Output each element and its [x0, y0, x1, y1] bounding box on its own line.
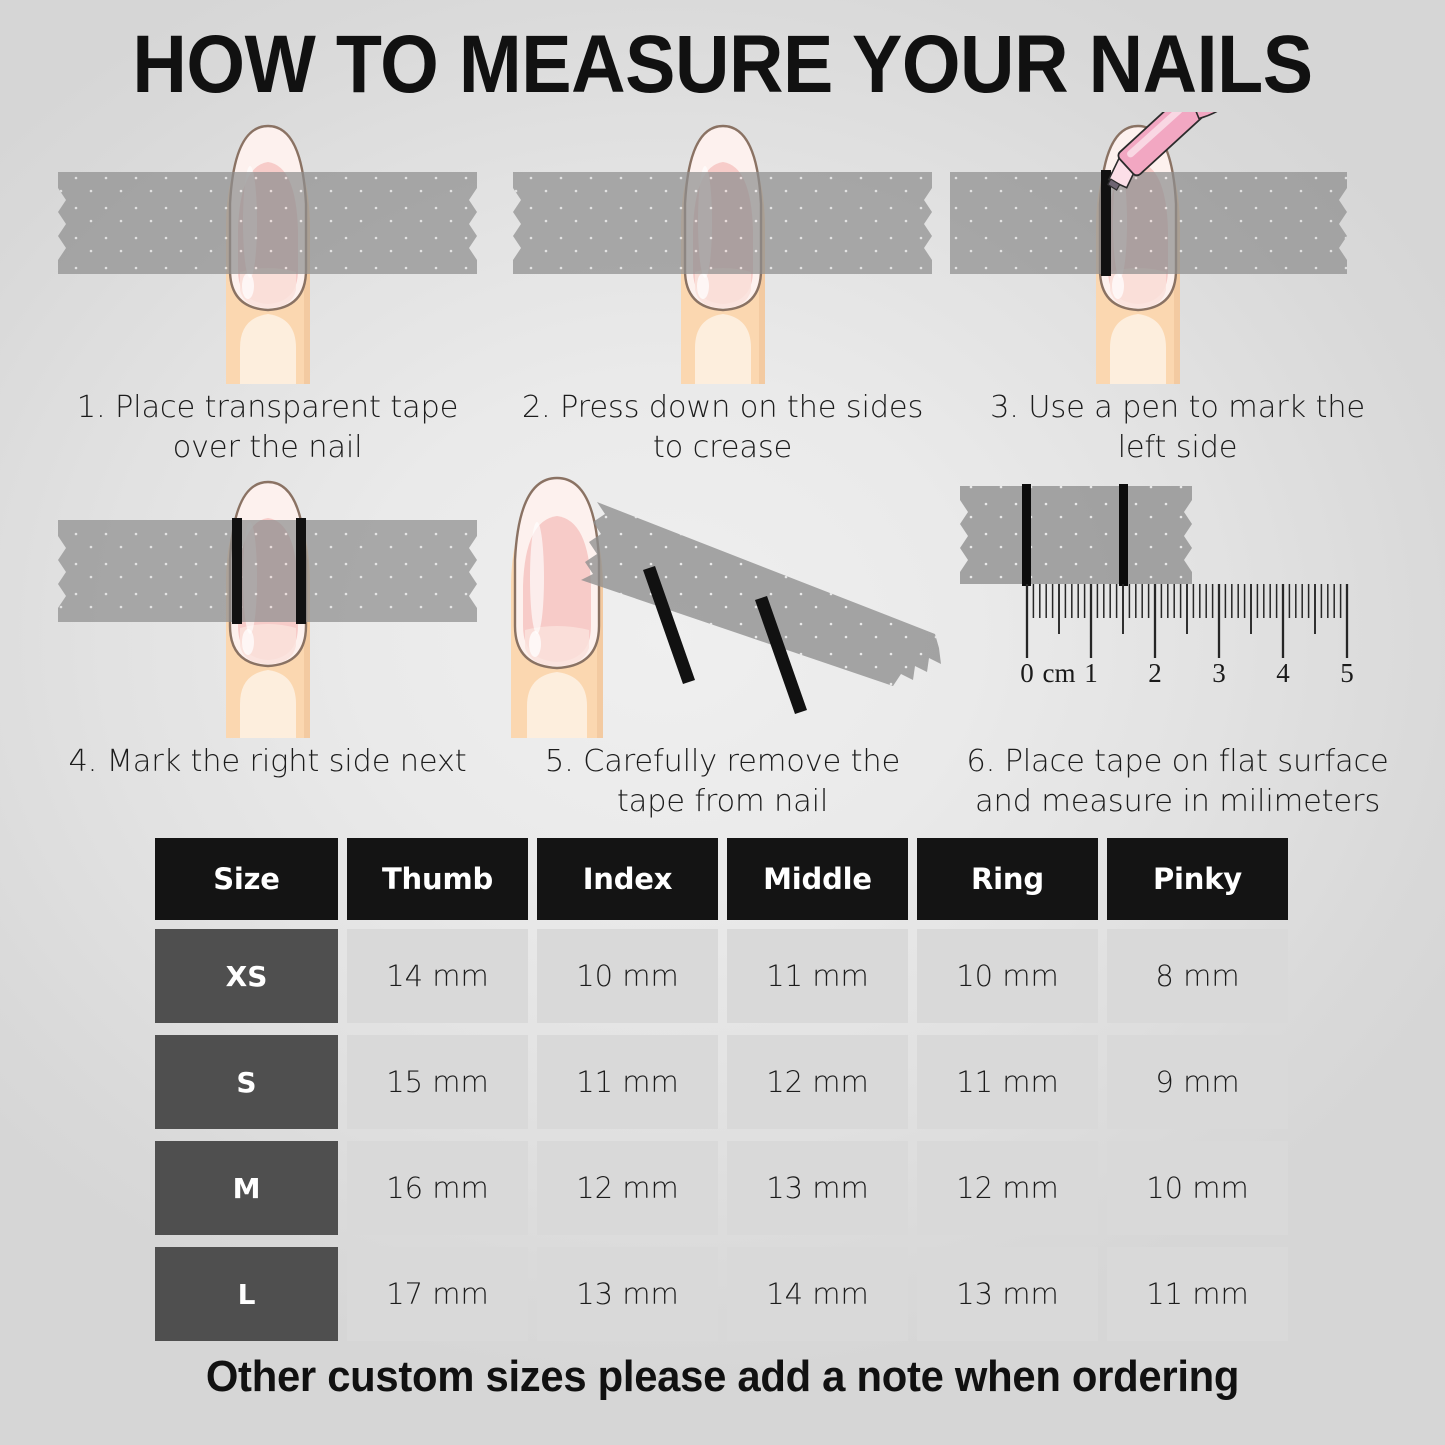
nail-with-tape-creased-icon	[495, 112, 950, 384]
data-cell: 12 mm	[917, 1141, 1098, 1235]
tape-strip	[950, 172, 1347, 274]
footer-note: Other custom sizes please add a note whe…	[36, 1352, 1409, 1402]
step-3: 3. Use a pen to mark the left side	[950, 112, 1405, 468]
data-cell: 9 mm	[1107, 1035, 1288, 1129]
header-label-thumb: Thumb	[382, 862, 493, 896]
step-4: 4. Mark the right side next	[40, 468, 495, 822]
data-cell: 17 mm	[347, 1247, 528, 1341]
data-cell: 11 mm	[727, 929, 908, 1023]
tape-mark-left	[1022, 484, 1031, 586]
header-label-index: Index	[583, 862, 673, 896]
cell-value: 10 mm	[1146, 1171, 1249, 1205]
tape-mark-right	[1119, 484, 1128, 586]
data-cell: 11 mm	[1107, 1247, 1288, 1341]
cell-value: 13 mm	[766, 1171, 869, 1205]
data-cell: 10 mm	[917, 929, 1098, 1023]
header-label-middle: Middle	[763, 862, 872, 896]
step-6-illustration: 0 cm 1 2 3 4 5	[950, 468, 1405, 738]
data-cell: 13 mm	[917, 1247, 1098, 1341]
step-6-caption: 6. Place tape on flat surface and measur…	[963, 742, 1393, 822]
page-title: HOW TO MEASURE YOUR NAILS	[58, 18, 1387, 112]
cell-value: 11 mm	[576, 1065, 679, 1099]
header-cell-index: Index	[537, 838, 718, 920]
tape-strip	[58, 520, 477, 622]
data-cell: 15 mm	[347, 1035, 528, 1129]
nail-with-tape-icon	[40, 112, 495, 384]
data-cell: 11 mm	[917, 1035, 1098, 1129]
data-cell: 12 mm	[537, 1141, 718, 1235]
nail-shape	[515, 478, 599, 668]
ruler-labels: 0 cm 1 2 3 4 5	[1020, 658, 1354, 688]
ruler-tick-5: 5	[1340, 658, 1354, 688]
right-mark	[296, 518, 306, 624]
step-6: 0 cm 1 2 3 4 5 6. Place tape on flat sur…	[950, 468, 1405, 822]
infographic-page: HOW TO MEASURE YOUR NAILS	[0, 0, 1445, 1445]
step-4-caption: 4. Mark the right side next	[53, 742, 483, 782]
tape-on-ruler-icon: 0 cm 1 2 3 4 5	[950, 468, 1405, 738]
steps-row-2: 4. Mark the right side next	[40, 468, 1405, 822]
header-label-size: Size	[213, 862, 280, 896]
ruler-scale	[1027, 584, 1347, 658]
ruler-tick-1: 1	[1084, 658, 1098, 688]
cell-value: 16 mm	[386, 1171, 489, 1205]
step-5-illustration	[495, 468, 950, 738]
ruler-tick-4: 4	[1276, 658, 1290, 688]
cell-value: 10 mm	[576, 959, 679, 993]
step-1-caption: 1. Place transparent tape over the nail	[53, 388, 483, 468]
header-label-pinky: Pinky	[1153, 862, 1242, 896]
table-row: XS 14 mm 10 mm 11 mm 10 mm 8 mm	[155, 929, 1325, 1023]
size-label: M	[233, 1172, 261, 1205]
ruler-unit-label: cm	[1043, 658, 1076, 688]
ruler-tape	[960, 486, 1192, 584]
ruler-tick-0: 0	[1020, 658, 1034, 688]
size-cell-xs: XS	[155, 929, 338, 1023]
cell-value: 10 mm	[956, 959, 1059, 993]
ruler-tick-3: 3	[1212, 658, 1226, 688]
header-cell-ring: Ring	[917, 838, 1098, 920]
size-label: S	[236, 1066, 256, 1099]
cell-value: 11 mm	[956, 1065, 1059, 1099]
header-cell-middle: Middle	[727, 838, 908, 920]
size-label: L	[238, 1278, 256, 1311]
step-5: 5. Carefully remove the tape from nail	[495, 468, 950, 822]
table-row: L 17 mm 13 mm 14 mm 13 mm 11 mm	[155, 1247, 1325, 1341]
steps-row-1: 1. Place transparent tape over the nail	[40, 112, 1405, 468]
data-cell: 11 mm	[537, 1035, 718, 1129]
step-2: 2. Press down on the sides to crease	[495, 112, 950, 468]
cell-value: 13 mm	[956, 1277, 1059, 1311]
cell-value: 8 mm	[1155, 959, 1239, 993]
data-cell: 14 mm	[727, 1247, 908, 1341]
peeled-tape	[581, 502, 941, 686]
step-2-caption: 2. Press down on the sides to crease	[508, 388, 938, 468]
size-cell-m: M	[155, 1141, 338, 1235]
step-5-caption: 5. Carefully remove the tape from nail	[508, 742, 938, 822]
table-header-row: Size Thumb Index Middle Ring Pinky	[155, 838, 1325, 920]
cell-value: 15 mm	[386, 1065, 489, 1099]
table-row: M 16 mm 12 mm 13 mm 12 mm 10 mm	[155, 1141, 1325, 1235]
size-table: Size Thumb Index Middle Ring Pinky XS 14…	[155, 838, 1325, 1353]
cell-value: 12 mm	[956, 1171, 1059, 1205]
nail-with-pen-icon	[950, 112, 1405, 384]
data-cell: 12 mm	[727, 1035, 908, 1129]
step-3-illustration	[950, 112, 1405, 384]
cell-value: 14 mm	[386, 959, 489, 993]
data-cell: 8 mm	[1107, 929, 1288, 1023]
data-cell: 10 mm	[537, 929, 718, 1023]
header-cell-pinky: Pinky	[1107, 838, 1288, 920]
size-cell-l: L	[155, 1247, 338, 1341]
cell-value: 11 mm	[1146, 1277, 1249, 1311]
data-cell: 16 mm	[347, 1141, 528, 1235]
data-cell: 13 mm	[727, 1141, 908, 1235]
cell-value: 12 mm	[576, 1171, 679, 1205]
data-cell: 14 mm	[347, 929, 528, 1023]
cell-value: 17 mm	[386, 1277, 489, 1311]
cell-value: 12 mm	[766, 1065, 869, 1099]
data-cell: 13 mm	[537, 1247, 718, 1341]
step-3-caption: 3. Use a pen to mark the left side	[963, 388, 1393, 468]
data-cell: 10 mm	[1107, 1141, 1288, 1235]
ruler-tick-2: 2	[1148, 658, 1162, 688]
table-body: XS 14 mm 10 mm 11 mm 10 mm 8 mm S 15 mm …	[155, 929, 1325, 1341]
header-cell-thumb: Thumb	[347, 838, 528, 920]
tape-strip	[513, 172, 932, 274]
header-cell-size: Size	[155, 838, 338, 920]
cell-value: 9 mm	[1155, 1065, 1239, 1099]
cell-value: 14 mm	[766, 1277, 869, 1311]
nail-two-marks-icon	[40, 468, 495, 738]
size-label: XS	[226, 960, 268, 993]
cell-value: 11 mm	[766, 959, 869, 993]
tape-strip	[58, 172, 477, 274]
steps-grid: 1. Place transparent tape over the nail	[40, 112, 1405, 822]
header-label-ring: Ring	[971, 862, 1044, 896]
step-4-illustration	[40, 468, 495, 738]
left-mark	[232, 518, 242, 624]
cell-value: 13 mm	[576, 1277, 679, 1311]
step-1-illustration	[40, 112, 495, 384]
step-2-illustration	[495, 112, 950, 384]
step-1: 1. Place transparent tape over the nail	[40, 112, 495, 468]
table-row: S 15 mm 11 mm 12 mm 11 mm 9 mm	[155, 1035, 1325, 1129]
size-cell-s: S	[155, 1035, 338, 1129]
tape-peeled-icon	[495, 468, 950, 738]
